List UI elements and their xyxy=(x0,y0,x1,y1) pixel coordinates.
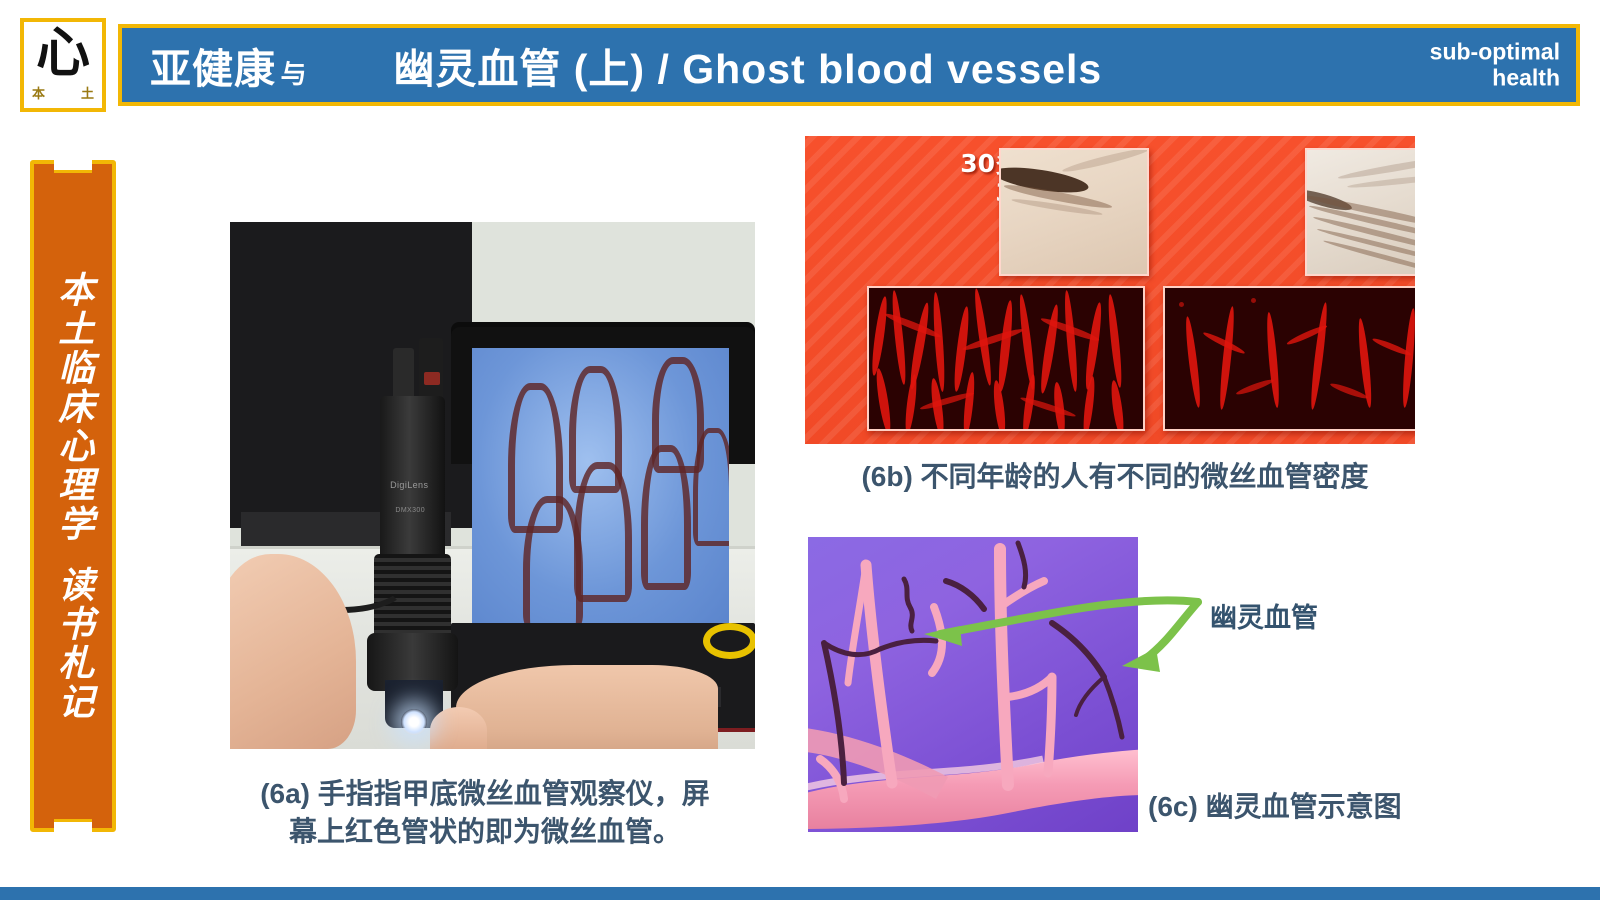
skin-photo-young xyxy=(999,148,1149,276)
logo-subtext: 本 土 xyxy=(28,83,98,102)
capillary-density-old xyxy=(1163,286,1415,431)
figure-6a-capillary-scope-photo: DigiLens DMX300 xyxy=(230,222,755,749)
figure-6b-caption: (6b) 不同年龄的人有不同的微丝血管密度 xyxy=(795,455,1435,495)
logo-mark: 心 本 土 xyxy=(28,26,98,104)
ghost-vessel-annotation: 幽灵血管 xyxy=(1210,596,1318,635)
slide-header: 心 本 土 亚健康 与 幽灵血管 (上) / Ghost blood vesse… xyxy=(0,0,1600,130)
figure-6b-age-comparison: 30多歲 30s 70多歲 70s xyxy=(805,136,1415,444)
logo-char-right: 土 xyxy=(81,83,94,102)
title-conjunction: 与 xyxy=(280,59,306,89)
banner-notch-top xyxy=(54,160,92,173)
photo-examined-finger xyxy=(430,707,488,749)
brand-logo: 心 本 土 xyxy=(20,18,106,112)
figure-6a-caption-line-1: (6a) 手指指甲底微丝血管观察仪，屏 xyxy=(205,775,765,813)
skin-photo-old xyxy=(1305,148,1415,276)
photo-scope-light xyxy=(401,709,427,735)
heart-glyph-icon: 心 xyxy=(28,22,98,84)
figure-6a-caption-line-2: 幕上红色管状的即为微丝血管。 xyxy=(205,813,765,851)
figure-6c-caption: (6c) 幽灵血管示意图 xyxy=(1148,785,1498,825)
photo-right-hand xyxy=(456,665,719,749)
footer-bar xyxy=(0,887,1600,900)
device-model-label: DMX300 xyxy=(395,507,425,514)
banner-notch-bottom xyxy=(54,819,92,832)
title-bar: 亚健康 与 幽灵血管 (上) / Ghost blood vessels sub… xyxy=(118,24,1580,106)
title-zone: 亚健康 与 幽灵血管 (上) / Ghost blood vessels sub… xyxy=(122,28,1576,102)
side-banner-line-1: 本土临床心理学 xyxy=(53,271,94,544)
side-banner-line-2: 读书札记 xyxy=(53,566,94,722)
device-brand-label: DigiLens xyxy=(390,480,428,490)
logo-char-left: 本 xyxy=(32,83,45,102)
capillary-density-young xyxy=(867,286,1145,431)
figure-6a-caption: (6a) 手指指甲底微丝血管观察仪，屏 幕上红色管状的即为微丝血管。 xyxy=(205,775,765,851)
photo-scope-red-marker xyxy=(424,372,440,385)
title-main-text: 幽灵血管 (上) / Ghost blood vessels xyxy=(393,46,1102,92)
photo-device-screen xyxy=(472,348,729,633)
photo-yellow-cable xyxy=(703,623,756,659)
header-subnote: sub-optimal health xyxy=(1430,39,1560,91)
page-title: 亚健康 与 幽灵血管 (上) / Ghost blood vessels xyxy=(150,35,1102,95)
side-banner: 本土临床心理学 读书札记 xyxy=(30,160,116,832)
title-prefix: 亚健康 xyxy=(150,46,276,92)
